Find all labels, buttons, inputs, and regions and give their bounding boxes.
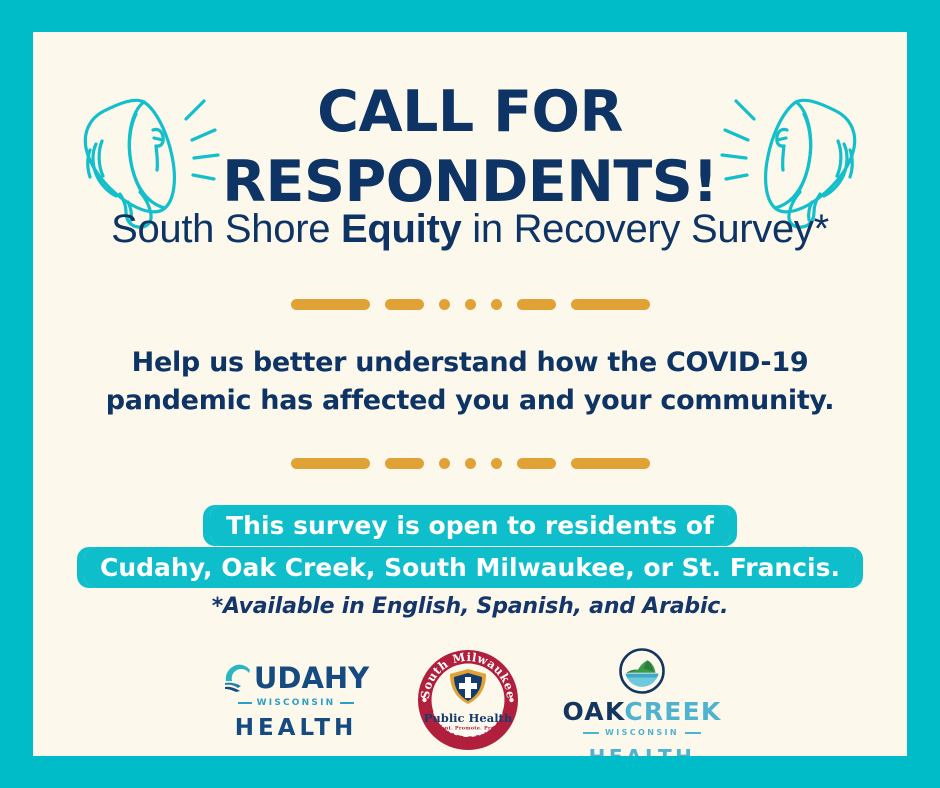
- divider-dash: [571, 458, 650, 469]
- callout-line-2: Cudahy, Oak Creek, South Milwaukee, or S…: [84, 547, 856, 588]
- oak-creek-emblem-icon: [619, 648, 665, 694]
- callout-row-2: Cudahy, Oak Creek, South Milwaukee, or S…: [33, 549, 907, 587]
- cudahy-state-line: WISCONSIN: [218, 698, 374, 708]
- divider-dash: [385, 299, 424, 310]
- subtitle-part-2: in Recovery Survey*: [461, 207, 828, 251]
- survey-subtitle: South Shore Equity in Recovery Survey*: [33, 207, 907, 252]
- rule-left: [238, 702, 252, 704]
- logo-oak-creek-health: OAKCREEK WISCONSIN HEALTH: [562, 648, 722, 756]
- subtitle-emphasis: Equity: [341, 207, 461, 251]
- cudahy-wordmark: UDAHY: [218, 662, 374, 695]
- divider-dash: [291, 299, 370, 310]
- divider-dot: [465, 458, 476, 469]
- body-copy-line-2: pandemic has affected you and your commu…: [33, 382, 907, 420]
- divider-dash: [517, 299, 556, 310]
- divider-bottom: [33, 456, 907, 470]
- page-title: CALL FOR RESPONDENTS!: [33, 78, 907, 217]
- logo-cudahy-health: UDAHY WISCONSIN HEALTH: [218, 648, 374, 741]
- oak-creek-wordmark: OAKCREEK: [562, 699, 722, 724]
- divider-dot: [491, 458, 502, 469]
- callout-line-1: This survey is open to residents of: [210, 505, 730, 546]
- rule-right: [685, 732, 701, 734]
- poster-canvas: CALL FOR RESPONDENTS! South Shore Equity…: [0, 0, 940, 788]
- divider-dash: [571, 299, 650, 310]
- divider-dot: [439, 299, 450, 310]
- cudahy-health-text: HEALTH: [218, 715, 374, 741]
- cudahy-wave-c-icon: [223, 663, 253, 694]
- body-copy: Help us better understand how the COVID-…: [33, 344, 907, 421]
- oak-creek-word-oak: OAK: [563, 697, 625, 726]
- cudahy-letters: UDAHY: [254, 664, 369, 693]
- divider-top: [33, 297, 907, 311]
- rule-right: [340, 702, 354, 704]
- headline-line-1: CALL FOR: [33, 78, 907, 148]
- oak-creek-state-line: WISCONSIN: [562, 728, 722, 737]
- rule-left: [583, 732, 599, 734]
- oak-creek-state-text: WISCONSIN: [605, 728, 679, 737]
- divider-dash: [385, 458, 424, 469]
- poster-card: CALL FOR RESPONDENTS! South Shore Equity…: [33, 32, 907, 756]
- divider-dash: [517, 458, 556, 469]
- oak-creek-word-creek: CREEK: [624, 697, 721, 726]
- body-copy-line-1: Help us better understand how the COVID-…: [33, 344, 907, 382]
- eligibility-callout: This survey is open to residents of Cuda…: [33, 507, 907, 586]
- divider-dot: [491, 299, 502, 310]
- callout-row-1: This survey is open to residents of: [33, 507, 907, 545]
- cudahy-state-text: WISCONSIN: [257, 698, 336, 708]
- svg-text:Public Health: Public Health: [424, 711, 513, 725]
- divider-dash: [291, 458, 370, 469]
- logo-south-milwaukee-saint-francis: South Milwaukee Saint Francis Public Hea…: [416, 648, 520, 752]
- divider-dot: [465, 299, 476, 310]
- svg-text:Prevent. Promote. Protect.: Prevent. Promote. Protect.: [428, 726, 508, 732]
- partner-logo-row: UDAHY WISCONSIN HEALTH: [33, 648, 907, 756]
- oak-creek-health-text: HEALTH: [562, 745, 722, 756]
- language-footnote: *Available in English, Spanish, and Arab…: [33, 594, 907, 619]
- subtitle-part-1: South Shore: [111, 207, 341, 251]
- divider-dot: [439, 458, 450, 469]
